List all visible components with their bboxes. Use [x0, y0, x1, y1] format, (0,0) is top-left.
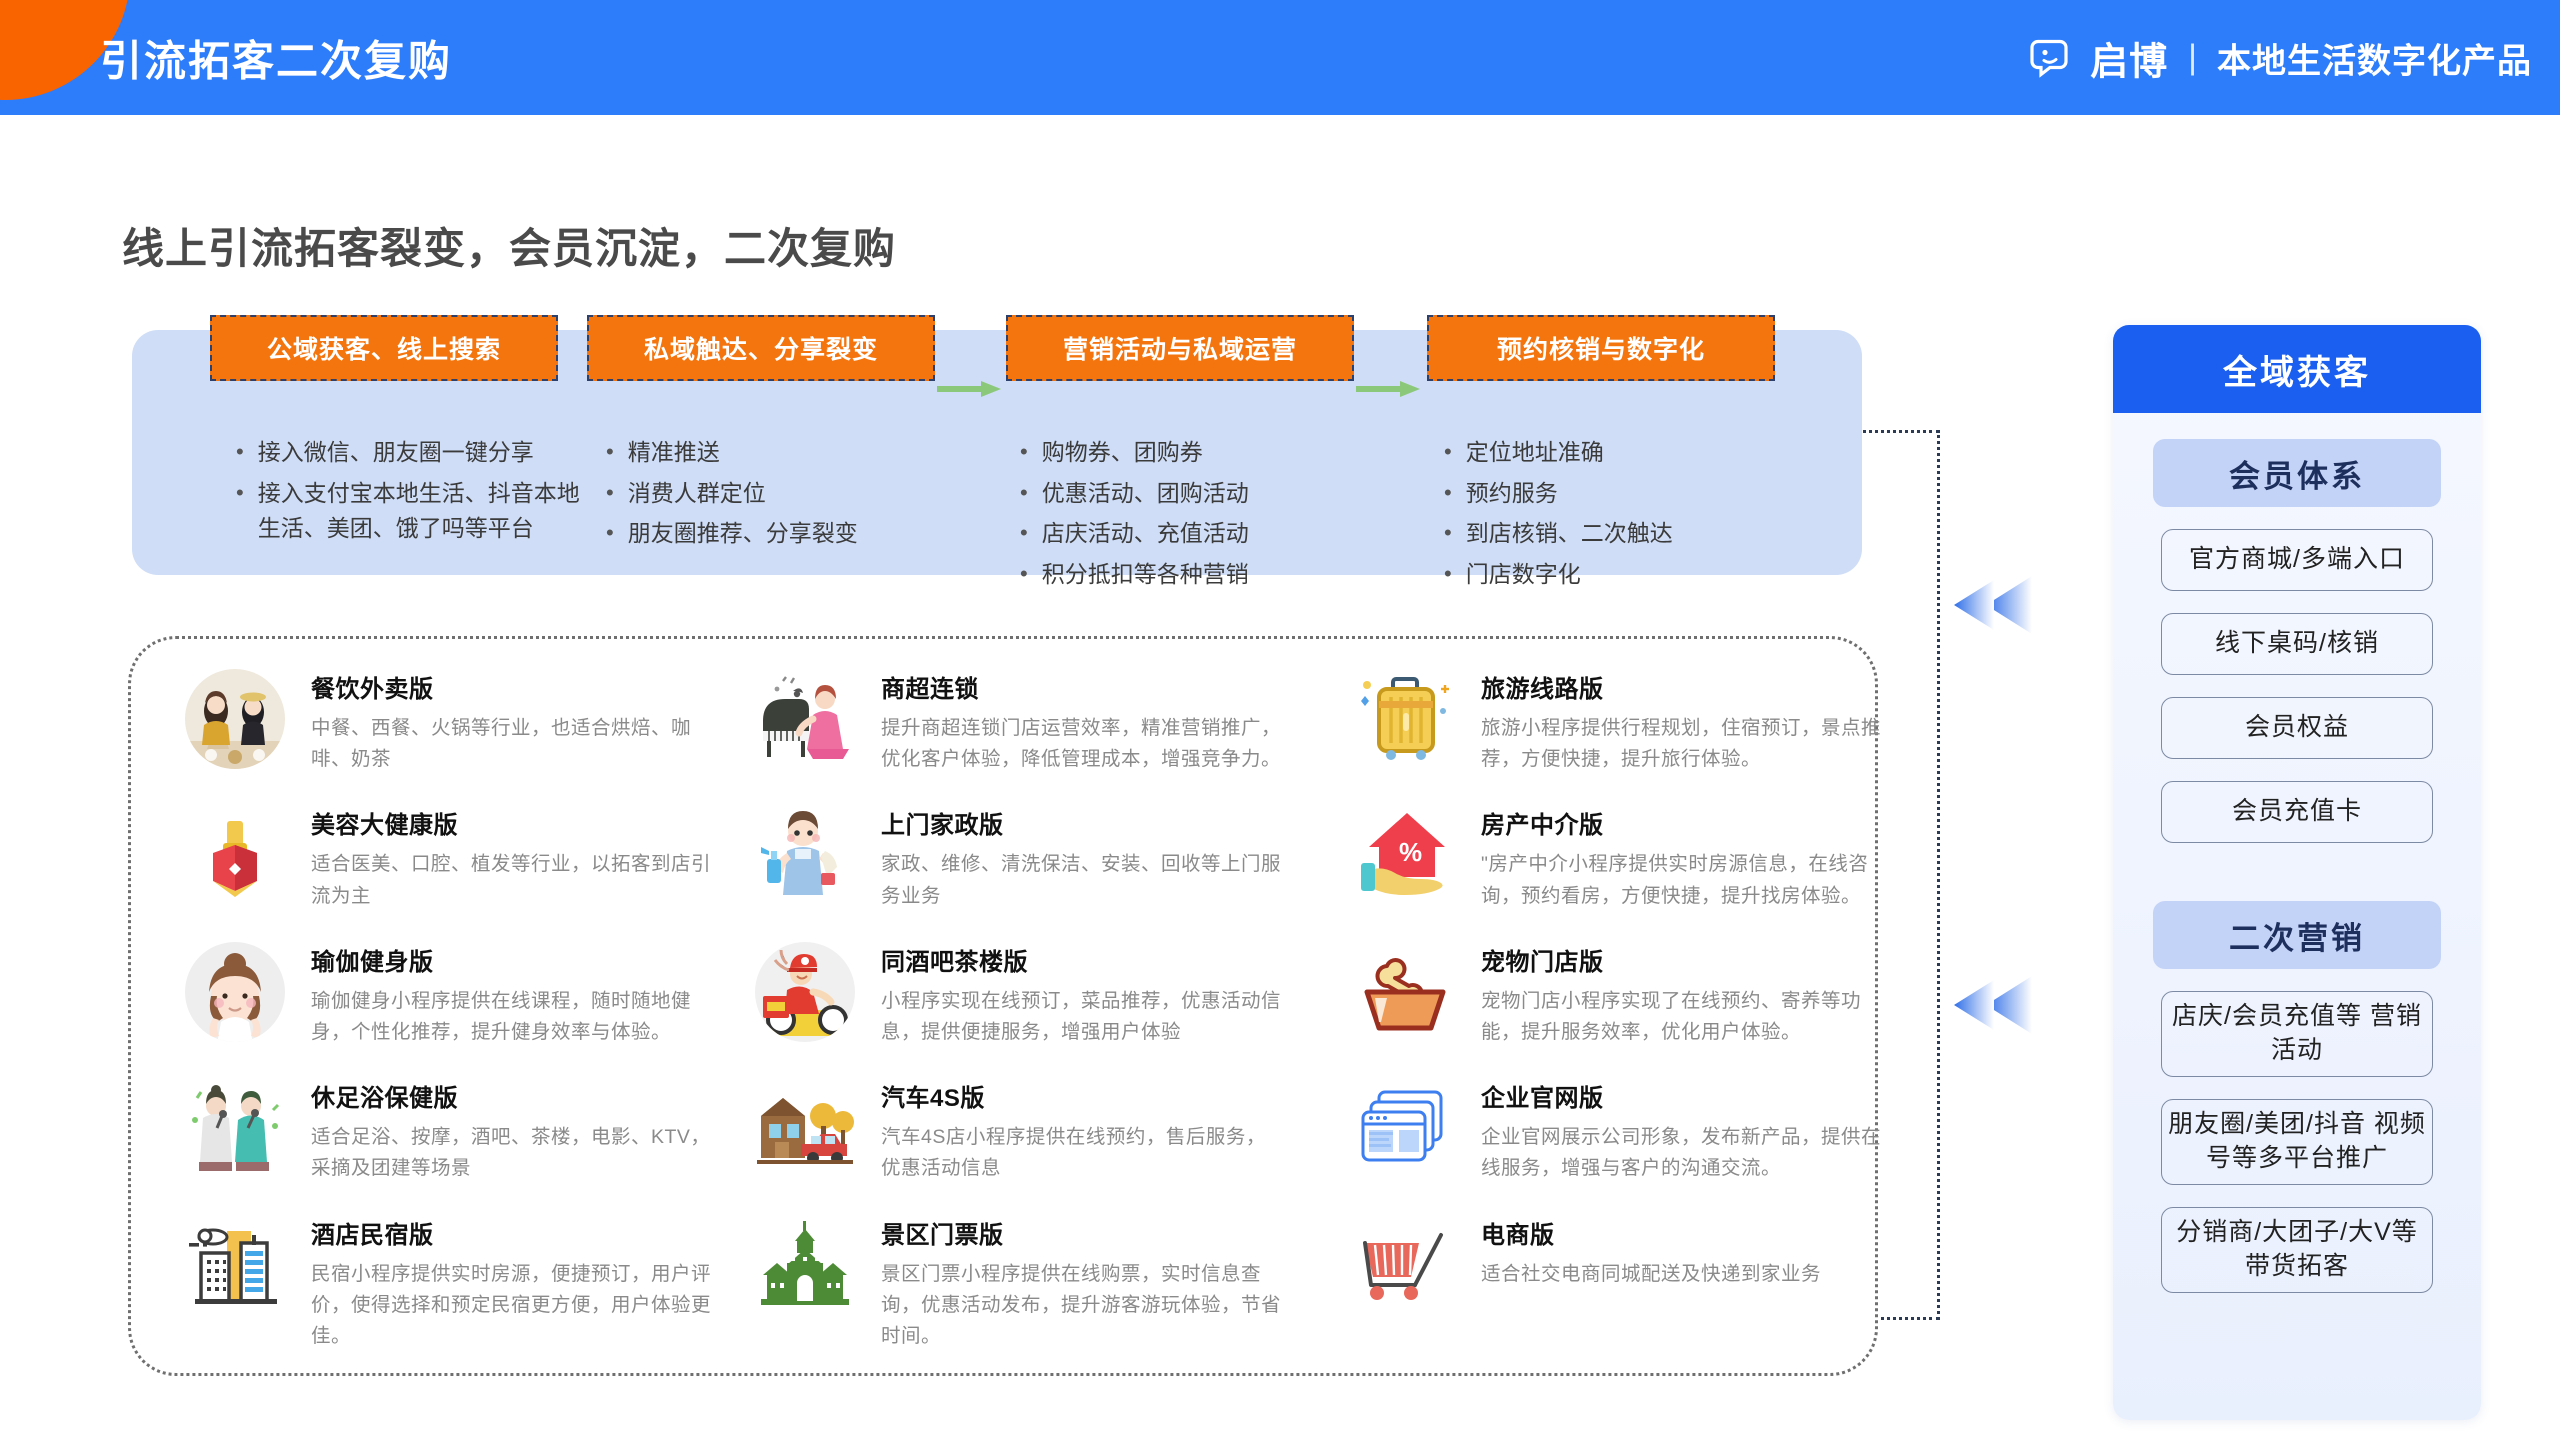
- bullet-dot: •: [1020, 476, 1028, 509]
- industry-card-title: 房产中介版: [1481, 805, 1881, 840]
- flow-bullet-text: 积分抵扣等各种营销: [1042, 557, 1380, 593]
- industry-card-body: 休足浴保健版 适合足浴、按摩，酒吧、茶楼，电影、KTV，采摘及团建等场景: [311, 1074, 711, 1184]
- industry-card-body: 商超连锁 提升商超连锁门店运营效率，精准营销推广，优化客户体验，降低管理成本，增…: [881, 665, 1281, 775]
- industry-card-title: 酒店民宿版: [311, 1215, 711, 1250]
- svg-text:%: %: [1399, 837, 1422, 867]
- flow-bullets-col-2: •精准推送 •消费人群定位 •朋友圈推荐、分享裂变: [606, 435, 946, 557]
- industry-cards-grid: 餐饮外卖版 中餐、西餐、火锅等行业，也适合烘焙、咖啡、奶茶: [171, 665, 1851, 1355]
- industry-card-body: 酒店民宿版 民宿小程序提供实时房源，便捷预订，用户评价，使得选择和预定民宿更方便…: [311, 1211, 711, 1353]
- industry-card[interactable]: 美容大健康版 适合医美、口腔、植发等行业，以拓客到店引流为主: [181, 801, 711, 911]
- double-chevron-left-icon-bottom: [1940, 960, 2060, 1050]
- industry-card-title: 美容大健康版: [311, 805, 711, 840]
- cards-column-2: 商超连锁 提升商超连锁门店运营效率，精准营销推广，优化客户体验，降低管理成本，增…: [751, 665, 1281, 1378]
- side-item-multi-platform-promotion[interactable]: 朋友圈/美团/抖音 视频号等多平台推广: [2161, 1099, 2433, 1185]
- flow-bullets-col-4: •定位地址准确 •预约服务 •到店核销、二次触达 •门店数字化: [1444, 435, 1804, 598]
- flow-bullet-text: 接入微信、朋友圈一键分享: [258, 435, 596, 471]
- industry-card-title: 企业官网版: [1481, 1078, 1881, 1113]
- industry-card-desc: 中餐、西餐、火锅等行业，也适合烘焙、咖啡、奶茶: [311, 713, 711, 775]
- flow-bullet: •消费人群定位: [606, 476, 946, 512]
- flow-step-3[interactable]: 营销活动与私域运营: [1006, 315, 1354, 381]
- side-item-official-mall[interactable]: 官方商城/多端入口: [2161, 529, 2433, 591]
- industry-card-desc: "房产中介小程序提供实时房源信息，在线咨询，预约看房，方便快捷，提升找房体验。: [1481, 849, 1881, 911]
- brand-lockup: 启博 | 本地生活数字化产品: [2030, 30, 2532, 85]
- flow-bullet: •朋友圈推荐、分享裂变: [606, 516, 946, 552]
- industry-card-body: 企业官网版 企业官网展示公司形象，发布新产品，提供在线服务，增强与客户的沟通交流…: [1481, 1074, 1881, 1184]
- shopping-cart-icon: [1351, 1211, 1459, 1319]
- industry-card-body: 宠物门店版 宠物门店小程序实现了在线预约、寄养等功能，提升服务效率，优化用户体验…: [1481, 938, 1881, 1048]
- castle-gate-icon: [751, 1211, 859, 1319]
- industry-card-body: 餐饮外卖版 中餐、西餐、火锅等行业，也适合烘焙、咖啡、奶茶: [311, 665, 711, 775]
- flow-bullet-text: 购物券、团购券: [1042, 435, 1380, 471]
- bullet-dot: •: [236, 476, 244, 509]
- side-item-anniversary-campaign[interactable]: 店庆/会员充值等 营销活动: [2161, 991, 2433, 1077]
- flow-bullet: •接入微信、朋友圈一键分享: [236, 435, 596, 471]
- industry-card-desc: 旅游小程序提供行程规划，住宿预订，景点推荐，方便快捷，提升旅行体验。: [1481, 713, 1881, 775]
- flow-bullet: •门店数字化: [1444, 557, 1804, 593]
- industry-card-title: 上门家政版: [881, 805, 1281, 840]
- section-heading: 线上引流拓客裂变，会员沉淀，二次复购: [122, 215, 896, 276]
- page-header: 引流拓客二次复购 启博 | 本地生活数字化产品: [0, 0, 2560, 115]
- industry-card[interactable]: 电商版 适合社交电商同城配送及快递到家业务: [1351, 1211, 1881, 1319]
- industry-card-desc: 适合医美、口腔、植发等行业，以拓客到店引流为主: [311, 849, 711, 911]
- pet-bowl-bone-icon: [1351, 938, 1459, 1046]
- car-dealership-icon: [751, 1074, 859, 1182]
- flow-bullet-text: 朋友圈推荐、分享裂变: [628, 516, 946, 552]
- industry-card-desc: 瑜伽健身小程序提供在线课程，随时随地健身，个性化推荐，提升健身效率与体验。: [311, 986, 711, 1048]
- side-item-distributor-kol[interactable]: 分销商/大团子/大V等 带货拓客: [2161, 1207, 2433, 1293]
- industry-card[interactable]: 休足浴保健版 适合足浴、按摩，酒吧、茶楼，电影、KTV，采摘及团建等场景: [181, 1074, 711, 1184]
- bullet-dot: •: [1444, 476, 1452, 509]
- bullet-dot: •: [1020, 557, 1028, 590]
- industry-card-desc: 家政、维修、清洗保洁、安装、回收等上门服务业务: [881, 849, 1281, 911]
- industry-card-desc: 宠物门店小程序实现了在线预约、寄养等功能，提升服务效率，优化用户体验。: [1481, 986, 1881, 1048]
- industry-card[interactable]: 同酒吧茶楼版 小程序实现在线预订，菜品推荐，优惠活动信息，提供便捷服务，增强用户…: [751, 938, 1281, 1048]
- double-chevron-left-icon-top: [1940, 560, 2060, 650]
- side-section-title-remarketing: 二次营销: [2153, 901, 2441, 969]
- flow-arrow-right-1: [937, 380, 1003, 398]
- industry-card[interactable]: 宠物门店版 宠物门店小程序实现了在线预约、寄养等功能，提升服务效率，优化用户体验…: [1351, 938, 1881, 1048]
- industry-card-desc: 适合足浴、按摩，酒吧、茶楼，电影、KTV，采摘及团建等场景: [311, 1122, 711, 1184]
- flow-bullet-text: 精准推送: [628, 435, 946, 471]
- industry-card-desc: 景区门票小程序提供在线购票，实时信息查询，优惠活动发布，提升游客游玩体验，节省时…: [881, 1259, 1281, 1353]
- nail-polish-icon: [181, 801, 289, 909]
- website-windows-icon: [1351, 1074, 1459, 1182]
- industry-card-title: 同酒吧茶楼版: [881, 942, 1281, 977]
- flow-bullet-text: 预约服务: [1466, 476, 1804, 512]
- side-item-member-recharge-card[interactable]: 会员充值卡: [2161, 781, 2433, 843]
- delivery-scooter-icon: [751, 938, 859, 1046]
- cards-column-1: 餐饮外卖版 中餐、西餐、火锅等行业，也适合烘焙、咖啡、奶茶: [181, 665, 711, 1378]
- house-percent-hand-icon: %: [1351, 801, 1459, 909]
- flow-bullet-text: 消费人群定位: [628, 476, 946, 512]
- industry-card-title: 电商版: [1481, 1215, 1881, 1250]
- industry-cards-container: 餐饮外卖版 中餐、西餐、火锅等行业，也适合烘焙、咖啡、奶茶: [128, 636, 1878, 1376]
- industry-card-desc: 汽车4S店小程序提供在线预约，售后服务，优惠活动信息: [881, 1122, 1281, 1184]
- cards-column-3: 旅游线路版 旅游小程序提供行程规划，住宿预订，景点推荐，方便快捷，提升旅行体验。…: [1351, 665, 1881, 1345]
- industry-card-title: 景区门票版: [881, 1215, 1281, 1250]
- industry-card-title: 休足浴保健版: [311, 1078, 711, 1113]
- flow-bullet: •定位地址准确: [1444, 435, 1804, 471]
- right-side-panel: 全域获客 会员体系 官方商城/多端入口 线下桌码/核销 会员权益 会员充值卡 二…: [2113, 325, 2481, 1420]
- flow-step-2[interactable]: 私域触达、分享裂变: [587, 315, 935, 381]
- flow-bullet-text: 优惠活动、团购活动: [1042, 476, 1380, 512]
- industry-card-title: 餐饮外卖版: [311, 669, 711, 704]
- flow-bullet: •购物券、团购券: [1020, 435, 1380, 471]
- flow-step-4[interactable]: 预约核销与数字化: [1427, 315, 1775, 381]
- flow-arrow-right-2: [1356, 380, 1422, 398]
- flow-bullet: •预约服务: [1444, 476, 1804, 512]
- industry-card[interactable]: 上门家政版 家政、维修、清洗保洁、安装、回收等上门服务业务: [751, 801, 1281, 911]
- bullet-dot: •: [1444, 516, 1452, 549]
- industry-card-desc: 提升商超连锁门店运营效率，精准营销推广，优化客户体验，降低管理成本，增强竞争力。: [881, 713, 1281, 775]
- flow-step-1[interactable]: 公域获客、线上搜索: [210, 315, 558, 381]
- industry-card[interactable]: 酒店民宿版 民宿小程序提供实时房源，便捷预订，用户评价，使得选择和预定民宿更方便…: [181, 1211, 711, 1353]
- bullet-dot: •: [1444, 557, 1452, 590]
- piano-girl-icon: [751, 665, 859, 773]
- flow-panel: 公域获客、线上搜索 私域触达、分享裂变 营销活动与私域运营 预约核销与数字化 •…: [132, 330, 1862, 575]
- industry-card-body: 瑜伽健身版 瑜伽健身小程序提供在线课程，随时随地健身，个性化推荐，提升健身效率与…: [311, 938, 711, 1048]
- side-panel-header: 全域获客: [2113, 325, 2481, 413]
- industry-card-body: 同酒吧茶楼版 小程序实现在线预订，菜品推荐，优惠活动信息，提供便捷服务，增强用户…: [881, 938, 1281, 1048]
- industry-card[interactable]: 企业官网版 企业官网展示公司形象，发布新产品，提供在线服务，增强与客户的沟通交流…: [1351, 1074, 1881, 1184]
- industry-card-title: 旅游线路版: [1481, 669, 1881, 704]
- flow-bullet-text: 到店核销、二次触达: [1466, 516, 1804, 552]
- industry-card[interactable]: 景区门票版 景区门票小程序提供在线购票，实时信息查询，优惠活动发布，提升游客游玩…: [751, 1211, 1281, 1353]
- industry-card[interactable]: 旅游线路版 旅游小程序提供行程规划，住宿预订，景点推荐，方便快捷，提升旅行体验。: [1351, 665, 1881, 775]
- brand-divider: |: [2184, 38, 2201, 77]
- industry-card[interactable]: 商超连锁 提升商超连锁门店运营效率，精准营销推广，优化客户体验，降低管理成本，增…: [751, 665, 1281, 775]
- industry-card-title: 宠物门店版: [1481, 942, 1881, 977]
- industry-card[interactable]: 餐饮外卖版 中餐、西餐、火锅等行业，也适合烘焙、咖啡、奶茶: [181, 665, 711, 775]
- industry-card-body: 景区门票版 景区门票小程序提供在线购票，实时信息查询，优惠活动发布，提升游客游玩…: [881, 1211, 1281, 1353]
- industry-card-desc: 民宿小程序提供实时房源，便捷预订，用户评价，使得选择和预定民宿更方便，用户体验更…: [311, 1259, 711, 1353]
- bullet-dot: •: [236, 435, 244, 468]
- flow-bullet: •优惠活动、团购活动: [1020, 476, 1380, 512]
- industry-card-desc: 企业官网展示公司形象，发布新产品，提供在线服务，增强与客户的沟通交流。: [1481, 1122, 1881, 1184]
- brand-name: 启博: [2090, 30, 2168, 85]
- brand-subtitle: 本地生活数字化产品: [2217, 33, 2532, 82]
- industry-card-body: 旅游线路版 旅游小程序提供行程规划，住宿预订，景点推荐，方便快捷，提升旅行体验。: [1481, 665, 1881, 775]
- flow-bullet: •接入支付宝本地生活、抖音本地生活、美团、饿了吗等平台: [236, 476, 596, 547]
- bullet-dot: •: [1444, 435, 1452, 468]
- industry-card-body: 电商版 适合社交电商同城配送及快递到家业务: [1481, 1211, 1881, 1319]
- industry-card-desc: 小程序实现在线预订，菜品推荐，优惠活动信息，提供便捷服务，增强用户体验: [881, 986, 1281, 1048]
- bullet-dot: •: [1020, 516, 1028, 549]
- industry-card-title: 汽车4S版: [881, 1078, 1281, 1113]
- bullet-dot: •: [1020, 435, 1028, 468]
- yoga-woman-icon: [181, 938, 289, 1046]
- housekeeper-icon: [751, 801, 859, 909]
- side-section-title-membership: 会员体系: [2153, 439, 2441, 507]
- side-item-offline-table-code[interactable]: 线下桌码/核销: [2161, 613, 2433, 675]
- bullet-dot: •: [606, 516, 614, 549]
- industry-card-title: 商超连锁: [881, 669, 1281, 704]
- flow-bullet-text: 店庆活动、充值活动: [1042, 516, 1380, 552]
- flow-bullet: •积分抵扣等各种营销: [1020, 557, 1380, 593]
- flow-bullet-text: 接入支付宝本地生活、抖音本地生活、美团、饿了吗等平台: [258, 476, 596, 547]
- suitcase-icon: [1351, 665, 1459, 773]
- industry-card[interactable]: % 房产中介版 "房产中介小程序提供实时房源信息，在线咨询，预约看房，方便快捷，…: [1351, 801, 1881, 911]
- industry-card[interactable]: 瑜伽健身版 瑜伽健身小程序提供在线课程，随时随地健身，个性化推荐，提升健身效率与…: [181, 938, 711, 1048]
- flow-bullets-col-3: •购物券、团购券 •优惠活动、团购活动 •店庆活动、充值活动 •积分抵扣等各种营…: [1020, 435, 1380, 598]
- industry-card-title: 瑜伽健身版: [311, 942, 711, 977]
- flow-bullet: •店庆活动、充值活动: [1020, 516, 1380, 552]
- industry-card-body: 上门家政版 家政、维修、清洗保洁、安装、回收等上门服务业务: [881, 801, 1281, 911]
- karaoke-people-icon: [181, 1074, 289, 1182]
- header-orange-dot: [38, 62, 64, 88]
- flow-bullet-text: 门店数字化: [1466, 557, 1804, 593]
- industry-card[interactable]: 汽车4S版 汽车4S店小程序提供在线预约，售后服务，优惠活动信息: [751, 1074, 1281, 1184]
- flow-bullet: •到店核销、二次触达: [1444, 516, 1804, 552]
- restaurant-photo-icon: [181, 665, 289, 773]
- industry-card-desc: 适合社交电商同城配送及快递到家业务: [1481, 1259, 1881, 1290]
- side-panel-spacer: [2113, 865, 2481, 875]
- qibo-logo-icon: [2030, 36, 2074, 80]
- bullet-dot: •: [606, 435, 614, 468]
- page-title: 引流拓客二次复购: [100, 27, 452, 88]
- industry-card-body: 美容大健康版 适合医美、口腔、植发等行业，以拓客到店引流为主: [311, 801, 711, 911]
- side-item-member-benefits[interactable]: 会员权益: [2161, 697, 2433, 759]
- bullet-dot: •: [606, 476, 614, 509]
- industry-card-body: 房产中介版 "房产中介小程序提供实时房源信息，在线咨询，预约看房，方便快捷，提升…: [1481, 801, 1881, 911]
- flow-bullets-col-1: •接入微信、朋友圈一键分享 •接入支付宝本地生活、抖音本地生活、美团、饿了吗等平…: [236, 435, 596, 552]
- flow-bullet-text: 定位地址准确: [1466, 435, 1804, 471]
- industry-card-body: 汽车4S版 汽车4S店小程序提供在线预约，售后服务，优惠活动信息: [881, 1074, 1281, 1184]
- flow-bullet: •精准推送: [606, 435, 946, 471]
- hotel-buildings-icon: [181, 1211, 289, 1319]
